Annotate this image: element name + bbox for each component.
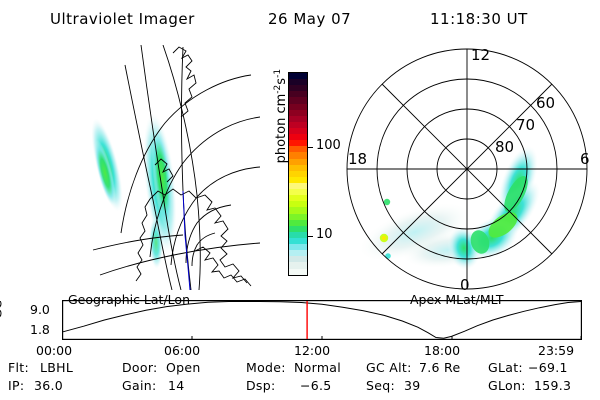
status-flt-label: Flt: [8, 360, 29, 375]
colorbar-tick-100 [307, 147, 313, 148]
aurora-arc-left [85, 116, 130, 214]
status-seq-label: Seq: [366, 378, 395, 393]
status-door-label: Door: [122, 360, 158, 375]
mlt-label-6: 6 [580, 150, 590, 168]
apex-polar-panel: 12 6 0 18 60 70 80 [340, 42, 595, 294]
status-dsp-value: −6.5 [300, 378, 332, 393]
geographic-map-svg [55, 45, 260, 290]
time-label-0000: 00:00 [36, 343, 72, 358]
status-door-value: Open [166, 360, 201, 375]
cbar-exp1: -2 [273, 85, 283, 94]
status-gcalt-value: 7.6 Re [419, 360, 460, 375]
mlt-label-18: 18 [348, 150, 367, 168]
time-label-1200: 12:00 [294, 343, 330, 358]
status-glat-value: −69.1 [528, 360, 568, 375]
altitude-curve [63, 302, 581, 339]
colorbar-label-100: 100 [316, 139, 341, 152]
status-gain-value: 14 [168, 378, 185, 393]
altitude-axis-word-gc: GC [0, 300, 5, 318]
lat-label-70: 70 [516, 116, 535, 134]
observation-time: 11:18:30 UT [430, 10, 528, 28]
colorbar-segment [289, 269, 307, 275]
status-glat-label: GLat: [488, 360, 523, 375]
status-ip-label: IP: [8, 378, 24, 393]
time-label-0600: 06:00 [164, 343, 200, 358]
lat-label-60: 60 [536, 94, 555, 112]
status-seq-value: 39 [404, 378, 421, 393]
status-ip-value: 36.0 [34, 378, 63, 393]
colorbar-gradient-box [288, 72, 308, 276]
status-glon-value: 159.3 [534, 378, 571, 393]
cbar-unit-s: s [274, 78, 289, 85]
status-mode-label: Mode: [246, 360, 286, 375]
altitude-time-series-plot[interactable] [62, 300, 582, 340]
altitude-plot-frame [63, 301, 582, 340]
status-footer: Flt: LBHL Door: Open Mode: Normal GC Alt… [0, 360, 600, 400]
status-glon-label: GLon: [488, 378, 526, 393]
altitude-ytick-low: 1.8 [30, 322, 50, 337]
status-gcalt-label: GC Alt: [366, 360, 412, 375]
status-dsp-label: Dsp: [246, 378, 275, 393]
status-mode-value: Normal [294, 360, 341, 375]
mlt-spokes [347, 49, 587, 289]
altitude-plot-svg [62, 300, 582, 340]
altitude-axis-word-alt: Alt [0, 321, 1, 338]
geographic-map-panel [55, 45, 260, 290]
colorbar-label-10: 10 [316, 228, 333, 241]
colorbar-tick-10 [307, 236, 313, 237]
cbar-unit-photon: photon cm [274, 94, 289, 164]
mlt-label-12: 12 [471, 46, 490, 64]
time-label-1800: 18:00 [424, 343, 460, 358]
altitude-ytick-high: 9.0 [30, 302, 50, 317]
apex-polar-svg: 12 6 0 18 60 70 80 [340, 42, 595, 294]
status-flt-value: LBHL [40, 360, 73, 375]
time-label-2359: 23:59 [538, 343, 574, 358]
colorbar-axis-label: photon cm-2s-1 [273, 26, 289, 206]
cbar-exp2: -1 [273, 69, 283, 78]
status-gain-label: Gain: [122, 378, 156, 393]
lat-label-80: 80 [495, 138, 514, 156]
colorbar: photon cm-2s-1 100 10 [255, 60, 350, 292]
instrument-title: Ultraviolet Imager [50, 10, 195, 28]
header-bar: Ultraviolet Imager 26 May 07 11:18:30 UT [0, 8, 600, 34]
